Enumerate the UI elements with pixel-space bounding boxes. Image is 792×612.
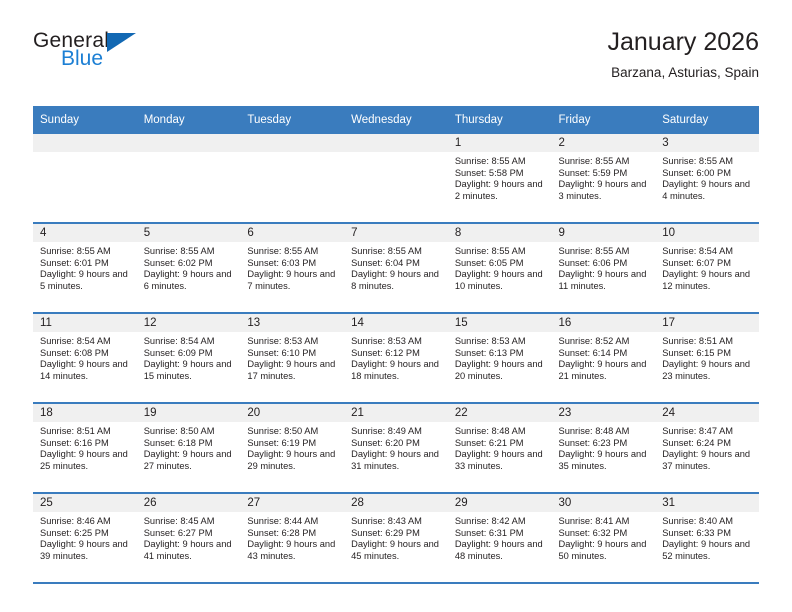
day-sun-info: Sunrise: 8:55 AMSunset: 6:00 PMDaylight:… (655, 152, 759, 202)
day-box: 31Sunrise: 8:40 AMSunset: 6:33 PMDayligh… (655, 494, 759, 582)
daylight-text: Daylight: 9 hours and 12 minutes. (662, 269, 753, 292)
daylight-text: Daylight: 9 hours and 21 minutes. (559, 359, 650, 382)
day-sun-info: Sunrise: 8:55 AMSunset: 6:04 PMDaylight:… (344, 242, 448, 292)
day-box: 25Sunrise: 8:46 AMSunset: 6:25 PMDayligh… (33, 494, 137, 582)
day-number (344, 134, 448, 152)
sunset-text: Sunset: 6:12 PM (351, 348, 442, 360)
sunrise-text: Sunrise: 8:44 AM (247, 516, 338, 528)
day-number: 11 (33, 314, 137, 332)
daylight-text: Daylight: 9 hours and 29 minutes. (247, 449, 338, 472)
day-sun-info: Sunrise: 8:45 AMSunset: 6:27 PMDaylight:… (137, 512, 241, 562)
sunrise-text: Sunrise: 8:55 AM (40, 246, 131, 258)
day-sun-info: Sunrise: 8:49 AMSunset: 6:20 PMDaylight:… (344, 422, 448, 472)
calendar-day-cell[interactable]: 18Sunrise: 8:51 AMSunset: 6:16 PMDayligh… (33, 403, 137, 493)
day-box: 12Sunrise: 8:54 AMSunset: 6:09 PMDayligh… (137, 314, 241, 402)
title-block: January 2026 Barzana, Asturias, Spain (607, 26, 759, 82)
sunrise-text: Sunrise: 8:55 AM (662, 156, 753, 168)
day-sun-info: Sunrise: 8:47 AMSunset: 6:24 PMDaylight:… (655, 422, 759, 472)
day-sun-info: Sunrise: 8:54 AMSunset: 6:09 PMDaylight:… (137, 332, 241, 382)
day-sun-info: Sunrise: 8:54 AMSunset: 6:07 PMDaylight:… (655, 242, 759, 292)
calendar-cell-empty (137, 134, 241, 223)
daylight-text: Daylight: 9 hours and 20 minutes. (455, 359, 546, 382)
day-box (240, 134, 344, 222)
day-sun-info: Sunrise: 8:53 AMSunset: 6:13 PMDaylight:… (448, 332, 552, 382)
sunrise-text: Sunrise: 8:47 AM (662, 426, 753, 438)
day-sun-info: Sunrise: 8:41 AMSunset: 6:32 PMDaylight:… (552, 512, 656, 562)
daylight-text: Daylight: 9 hours and 35 minutes. (559, 449, 650, 472)
calendar-day-cell[interactable]: 9Sunrise: 8:55 AMSunset: 6:06 PMDaylight… (552, 223, 656, 313)
calendar-day-cell[interactable]: 2Sunrise: 8:55 AMSunset: 5:59 PMDaylight… (552, 134, 656, 223)
day-number: 21 (344, 404, 448, 422)
daylight-text: Daylight: 9 hours and 23 minutes. (662, 359, 753, 382)
daylight-text: Daylight: 9 hours and 48 minutes. (455, 539, 546, 562)
calendar-cell-empty (240, 134, 344, 223)
calendar-day-cell[interactable]: 20Sunrise: 8:50 AMSunset: 6:19 PMDayligh… (240, 403, 344, 493)
day-sun-info: Sunrise: 8:51 AMSunset: 6:16 PMDaylight:… (33, 422, 137, 472)
day-sun-info: Sunrise: 8:53 AMSunset: 6:10 PMDaylight:… (240, 332, 344, 382)
day-sun-info: Sunrise: 8:55 AMSunset: 6:03 PMDaylight:… (240, 242, 344, 292)
daylight-text: Daylight: 9 hours and 37 minutes. (662, 449, 753, 472)
day-box: 16Sunrise: 8:52 AMSunset: 6:14 PMDayligh… (552, 314, 656, 402)
calendar-day-cell[interactable]: 6Sunrise: 8:55 AMSunset: 6:03 PMDaylight… (240, 223, 344, 313)
day-sun-info: Sunrise: 8:46 AMSunset: 6:25 PMDaylight:… (33, 512, 137, 562)
day-box: 21Sunrise: 8:49 AMSunset: 6:20 PMDayligh… (344, 404, 448, 492)
calendar-day-cell[interactable]: 12Sunrise: 8:54 AMSunset: 6:09 PMDayligh… (137, 313, 241, 403)
weekday-header-saturday: Saturday (655, 106, 759, 134)
day-sun-info: Sunrise: 8:50 AMSunset: 6:18 PMDaylight:… (137, 422, 241, 472)
calendar-week-row: 11Sunrise: 8:54 AMSunset: 6:08 PMDayligh… (33, 313, 759, 403)
day-number: 30 (552, 494, 656, 512)
daylight-text: Daylight: 9 hours and 50 minutes. (559, 539, 650, 562)
weekday-header-thursday: Thursday (448, 106, 552, 134)
sunrise-text: Sunrise: 8:55 AM (247, 246, 338, 258)
day-number: 22 (448, 404, 552, 422)
sunrise-text: Sunrise: 8:51 AM (662, 336, 753, 348)
page-title: January 2026 (607, 26, 759, 58)
day-sun-info: Sunrise: 8:53 AMSunset: 6:12 PMDaylight:… (344, 332, 448, 382)
daylight-text: Daylight: 9 hours and 5 minutes. (40, 269, 131, 292)
page-header: General Blue January 2026 Barzana, Astur… (33, 30, 759, 98)
day-box: 14Sunrise: 8:53 AMSunset: 6:12 PMDayligh… (344, 314, 448, 402)
sunset-text: Sunset: 6:06 PM (559, 258, 650, 270)
sunrise-text: Sunrise: 8:55 AM (455, 246, 546, 258)
day-sun-info: Sunrise: 8:50 AMSunset: 6:19 PMDaylight:… (240, 422, 344, 472)
calendar-day-cell[interactable]: 11Sunrise: 8:54 AMSunset: 6:08 PMDayligh… (33, 313, 137, 403)
sunset-text: Sunset: 6:23 PM (559, 438, 650, 450)
day-number: 23 (552, 404, 656, 422)
sunrise-text: Sunrise: 8:52 AM (559, 336, 650, 348)
sunrise-text: Sunrise: 8:48 AM (455, 426, 546, 438)
day-box: 19Sunrise: 8:50 AMSunset: 6:18 PMDayligh… (137, 404, 241, 492)
sunrise-text: Sunrise: 8:55 AM (559, 156, 650, 168)
sunrise-text: Sunrise: 8:42 AM (455, 516, 546, 528)
daylight-text: Daylight: 9 hours and 14 minutes. (40, 359, 131, 382)
calendar-day-cell[interactable]: 14Sunrise: 8:53 AMSunset: 6:12 PMDayligh… (344, 313, 448, 403)
day-number: 17 (655, 314, 759, 332)
day-number: 13 (240, 314, 344, 332)
day-box (137, 134, 241, 222)
day-number: 7 (344, 224, 448, 242)
day-box: 8Sunrise: 8:55 AMSunset: 6:05 PMDaylight… (448, 224, 552, 312)
calendar-page: General Blue January 2026 Barzana, Astur… (0, 0, 792, 612)
calendar-day-cell[interactable]: 25Sunrise: 8:46 AMSunset: 6:25 PMDayligh… (33, 493, 137, 583)
calendar-day-cell[interactable]: 13Sunrise: 8:53 AMSunset: 6:10 PMDayligh… (240, 313, 344, 403)
sunrise-text: Sunrise: 8:45 AM (144, 516, 235, 528)
sunrise-text: Sunrise: 8:54 AM (40, 336, 131, 348)
sunset-text: Sunset: 6:31 PM (455, 528, 546, 540)
day-box: 6Sunrise: 8:55 AMSunset: 6:03 PMDaylight… (240, 224, 344, 312)
day-box: 17Sunrise: 8:51 AMSunset: 6:15 PMDayligh… (655, 314, 759, 402)
calendar-week-row: 18Sunrise: 8:51 AMSunset: 6:16 PMDayligh… (33, 403, 759, 493)
day-sun-info: Sunrise: 8:42 AMSunset: 6:31 PMDaylight:… (448, 512, 552, 562)
day-number: 4 (33, 224, 137, 242)
calendar-body: 1Sunrise: 8:55 AMSunset: 5:58 PMDaylight… (33, 134, 759, 583)
sunset-text: Sunset: 6:09 PM (144, 348, 235, 360)
daylight-text: Daylight: 9 hours and 3 minutes. (559, 179, 650, 202)
calendar-day-cell[interactable]: 7Sunrise: 8:55 AMSunset: 6:04 PMDaylight… (344, 223, 448, 313)
sunset-text: Sunset: 6:19 PM (247, 438, 338, 450)
daylight-text: Daylight: 9 hours and 45 minutes. (351, 539, 442, 562)
day-sun-info: Sunrise: 8:54 AMSunset: 6:08 PMDaylight:… (33, 332, 137, 382)
sunrise-text: Sunrise: 8:50 AM (144, 426, 235, 438)
calendar-day-cell[interactable]: 3Sunrise: 8:55 AMSunset: 6:00 PMDaylight… (655, 134, 759, 223)
day-number: 27 (240, 494, 344, 512)
calendar-day-cell[interactable]: 5Sunrise: 8:55 AMSunset: 6:02 PMDaylight… (137, 223, 241, 313)
day-sun-info: Sunrise: 8:52 AMSunset: 6:14 PMDaylight:… (552, 332, 656, 382)
weekday-headers: SundayMondayTuesdayWednesdayThursdayFrid… (33, 106, 759, 134)
calendar-day-cell[interactable]: 30Sunrise: 8:41 AMSunset: 6:32 PMDayligh… (552, 493, 656, 583)
daylight-text: Daylight: 9 hours and 11 minutes. (559, 269, 650, 292)
daylight-text: Daylight: 9 hours and 31 minutes. (351, 449, 442, 472)
day-box: 1Sunrise: 8:55 AMSunset: 5:58 PMDaylight… (448, 134, 552, 222)
day-box (344, 134, 448, 222)
sunrise-text: Sunrise: 8:46 AM (40, 516, 131, 528)
weekday-header-monday: Monday (137, 106, 241, 134)
day-number: 26 (137, 494, 241, 512)
sunrise-text: Sunrise: 8:54 AM (662, 246, 753, 258)
sunset-text: Sunset: 6:16 PM (40, 438, 131, 450)
calendar-cell-empty (33, 134, 137, 223)
calendar-day-cell[interactable]: 15Sunrise: 8:53 AMSunset: 6:13 PMDayligh… (448, 313, 552, 403)
day-number: 20 (240, 404, 344, 422)
calendar-day-cell[interactable]: 22Sunrise: 8:48 AMSunset: 6:21 PMDayligh… (448, 403, 552, 493)
day-number: 19 (137, 404, 241, 422)
day-number: 29 (448, 494, 552, 512)
sunrise-text: Sunrise: 8:49 AM (351, 426, 442, 438)
daylight-text: Daylight: 9 hours and 4 minutes. (662, 179, 753, 202)
day-number: 24 (655, 404, 759, 422)
day-box: 11Sunrise: 8:54 AMSunset: 6:08 PMDayligh… (33, 314, 137, 402)
calendar-day-cell[interactable]: 4Sunrise: 8:55 AMSunset: 6:01 PMDaylight… (33, 223, 137, 313)
day-box: 18Sunrise: 8:51 AMSunset: 6:16 PMDayligh… (33, 404, 137, 492)
calendar-grid: SundayMondayTuesdayWednesdayThursdayFrid… (33, 106, 759, 584)
sunset-text: Sunset: 6:01 PM (40, 258, 131, 270)
day-number: 31 (655, 494, 759, 512)
sunset-text: Sunset: 6:28 PM (247, 528, 338, 540)
daylight-text: Daylight: 9 hours and 25 minutes. (40, 449, 131, 472)
day-sun-info: Sunrise: 8:55 AMSunset: 6:01 PMDaylight:… (33, 242, 137, 292)
sunset-text: Sunset: 5:59 PM (559, 168, 650, 180)
day-number: 10 (655, 224, 759, 242)
day-box: 13Sunrise: 8:53 AMSunset: 6:10 PMDayligh… (240, 314, 344, 402)
day-box: 4Sunrise: 8:55 AMSunset: 6:01 PMDaylight… (33, 224, 137, 312)
day-box: 9Sunrise: 8:55 AMSunset: 6:06 PMDaylight… (552, 224, 656, 312)
day-box: 15Sunrise: 8:53 AMSunset: 6:13 PMDayligh… (448, 314, 552, 402)
weekday-header-sunday: Sunday (33, 106, 137, 134)
sunset-text: Sunset: 6:32 PM (559, 528, 650, 540)
day-box: 23Sunrise: 8:48 AMSunset: 6:23 PMDayligh… (552, 404, 656, 492)
day-box: 22Sunrise: 8:48 AMSunset: 6:21 PMDayligh… (448, 404, 552, 492)
daylight-text: Daylight: 9 hours and 52 minutes. (662, 539, 753, 562)
triangle-icon (107, 33, 136, 52)
calendar-day-cell[interactable]: 1Sunrise: 8:55 AMSunset: 5:58 PMDaylight… (448, 134, 552, 223)
calendar-day-cell[interactable]: 8Sunrise: 8:55 AMSunset: 6:05 PMDaylight… (448, 223, 552, 313)
daylight-text: Daylight: 9 hours and 2 minutes. (455, 179, 546, 202)
sunset-text: Sunset: 6:18 PM (144, 438, 235, 450)
day-sun-info: Sunrise: 8:55 AMSunset: 6:02 PMDaylight:… (137, 242, 241, 292)
sunset-text: Sunset: 6:00 PM (662, 168, 753, 180)
daylight-text: Daylight: 9 hours and 33 minutes. (455, 449, 546, 472)
sunset-text: Sunset: 6:15 PM (662, 348, 753, 360)
day-sun-info: Sunrise: 8:40 AMSunset: 6:33 PMDaylight:… (655, 512, 759, 562)
day-number: 12 (137, 314, 241, 332)
day-box: 3Sunrise: 8:55 AMSunset: 6:00 PMDaylight… (655, 134, 759, 222)
calendar-week-row: 4Sunrise: 8:55 AMSunset: 6:01 PMDaylight… (33, 223, 759, 313)
sunrise-text: Sunrise: 8:53 AM (455, 336, 546, 348)
day-box: 27Sunrise: 8:44 AMSunset: 6:28 PMDayligh… (240, 494, 344, 582)
weekday-header-tuesday: Tuesday (240, 106, 344, 134)
day-sun-info: Sunrise: 8:55 AMSunset: 5:59 PMDaylight:… (552, 152, 656, 202)
calendar-day-cell[interactable]: 19Sunrise: 8:50 AMSunset: 6:18 PMDayligh… (137, 403, 241, 493)
calendar-header-row: SundayMondayTuesdayWednesdayThursdayFrid… (33, 106, 759, 134)
calendar-day-cell[interactable]: 17Sunrise: 8:51 AMSunset: 6:15 PMDayligh… (655, 313, 759, 403)
day-box: 20Sunrise: 8:50 AMSunset: 6:19 PMDayligh… (240, 404, 344, 492)
sunset-text: Sunset: 6:20 PM (351, 438, 442, 450)
day-box: 10Sunrise: 8:54 AMSunset: 6:07 PMDayligh… (655, 224, 759, 312)
day-number: 8 (448, 224, 552, 242)
day-number (240, 134, 344, 152)
sunset-text: Sunset: 6:07 PM (662, 258, 753, 270)
daylight-text: Daylight: 9 hours and 17 minutes. (247, 359, 338, 382)
sunset-text: Sunset: 6:05 PM (455, 258, 546, 270)
sunset-text: Sunset: 6:25 PM (40, 528, 131, 540)
calendar-day-cell[interactable]: 31Sunrise: 8:40 AMSunset: 6:33 PMDayligh… (655, 493, 759, 583)
sunrise-text: Sunrise: 8:50 AM (247, 426, 338, 438)
day-box: 7Sunrise: 8:55 AMSunset: 6:04 PMDaylight… (344, 224, 448, 312)
sunset-text: Sunset: 6:24 PM (662, 438, 753, 450)
day-number (33, 134, 137, 152)
day-number: 15 (448, 314, 552, 332)
day-number: 28 (344, 494, 448, 512)
sunset-text: Sunset: 6:33 PM (662, 528, 753, 540)
calendar-day-cell[interactable]: 29Sunrise: 8:42 AMSunset: 6:31 PMDayligh… (448, 493, 552, 583)
sunrise-text: Sunrise: 8:48 AM (559, 426, 650, 438)
daylight-text: Daylight: 9 hours and 10 minutes. (455, 269, 546, 292)
brand-name-bottom: Blue (61, 49, 253, 69)
daylight-text: Daylight: 9 hours and 18 minutes. (351, 359, 442, 382)
day-box: 5Sunrise: 8:55 AMSunset: 6:02 PMDaylight… (137, 224, 241, 312)
calendar-day-cell[interactable]: 26Sunrise: 8:45 AMSunset: 6:27 PMDayligh… (137, 493, 241, 583)
day-sun-info: Sunrise: 8:55 AMSunset: 6:06 PMDaylight:… (552, 242, 656, 292)
day-number: 1 (448, 134, 552, 152)
day-number (137, 134, 241, 152)
calendar-week-row: 25Sunrise: 8:46 AMSunset: 6:25 PMDayligh… (33, 493, 759, 583)
sunset-text: Sunset: 6:03 PM (247, 258, 338, 270)
daylight-text: Daylight: 9 hours and 27 minutes. (144, 449, 235, 472)
sunset-text: Sunset: 6:27 PM (144, 528, 235, 540)
day-box: 24Sunrise: 8:47 AMSunset: 6:24 PMDayligh… (655, 404, 759, 492)
sunset-text: Sunset: 6:21 PM (455, 438, 546, 450)
sunset-text: Sunset: 5:58 PM (455, 168, 546, 180)
sunrise-text: Sunrise: 8:53 AM (247, 336, 338, 348)
day-number: 5 (137, 224, 241, 242)
day-sun-info: Sunrise: 8:55 AMSunset: 5:58 PMDaylight:… (448, 152, 552, 202)
day-box: 29Sunrise: 8:42 AMSunset: 6:31 PMDayligh… (448, 494, 552, 582)
day-sun-info: Sunrise: 8:44 AMSunset: 6:28 PMDaylight:… (240, 512, 344, 562)
day-sun-info: Sunrise: 8:48 AMSunset: 6:21 PMDaylight:… (448, 422, 552, 472)
day-sun-info: Sunrise: 8:43 AMSunset: 6:29 PMDaylight:… (344, 512, 448, 562)
brand-logo[interactable]: General Blue (33, 30, 253, 69)
sunset-text: Sunset: 6:29 PM (351, 528, 442, 540)
sunrise-text: Sunrise: 8:55 AM (351, 246, 442, 258)
daylight-text: Daylight: 9 hours and 8 minutes. (351, 269, 442, 292)
day-box: 28Sunrise: 8:43 AMSunset: 6:29 PMDayligh… (344, 494, 448, 582)
sunrise-text: Sunrise: 8:55 AM (455, 156, 546, 168)
calendar-day-cell[interactable]: 27Sunrise: 8:44 AMSunset: 6:28 PMDayligh… (240, 493, 344, 583)
day-sun-info: Sunrise: 8:51 AMSunset: 6:15 PMDaylight:… (655, 332, 759, 382)
day-sun-info: Sunrise: 8:55 AMSunset: 6:05 PMDaylight:… (448, 242, 552, 292)
sunrise-text: Sunrise: 8:55 AM (144, 246, 235, 258)
sunset-text: Sunset: 6:04 PM (351, 258, 442, 270)
daylight-text: Daylight: 9 hours and 41 minutes. (144, 539, 235, 562)
day-box (33, 134, 137, 222)
day-sun-info: Sunrise: 8:48 AMSunset: 6:23 PMDaylight:… (552, 422, 656, 472)
day-number: 18 (33, 404, 137, 422)
calendar-day-cell[interactable]: 21Sunrise: 8:49 AMSunset: 6:20 PMDayligh… (344, 403, 448, 493)
day-number: 9 (552, 224, 656, 242)
sunrise-text: Sunrise: 8:51 AM (40, 426, 131, 438)
sunrise-text: Sunrise: 8:40 AM (662, 516, 753, 528)
sunset-text: Sunset: 6:14 PM (559, 348, 650, 360)
day-box: 30Sunrise: 8:41 AMSunset: 6:32 PMDayligh… (552, 494, 656, 582)
calendar-day-cell[interactable]: 24Sunrise: 8:47 AMSunset: 6:24 PMDayligh… (655, 403, 759, 493)
day-number: 25 (33, 494, 137, 512)
sunrise-text: Sunrise: 8:55 AM (559, 246, 650, 258)
daylight-text: Daylight: 9 hours and 39 minutes. (40, 539, 131, 562)
sunrise-text: Sunrise: 8:54 AM (144, 336, 235, 348)
day-number: 16 (552, 314, 656, 332)
sunset-text: Sunset: 6:10 PM (247, 348, 338, 360)
day-number: 14 (344, 314, 448, 332)
weekday-header-wednesday: Wednesday (344, 106, 448, 134)
page-subtitle: Barzana, Asturias, Spain (607, 64, 759, 82)
day-number: 6 (240, 224, 344, 242)
sunset-text: Sunset: 6:08 PM (40, 348, 131, 360)
calendar-cell-empty (344, 134, 448, 223)
calendar-day-cell[interactable]: 16Sunrise: 8:52 AMSunset: 6:14 PMDayligh… (552, 313, 656, 403)
day-number: 3 (655, 134, 759, 152)
calendar-day-cell[interactable]: 10Sunrise: 8:54 AMSunset: 6:07 PMDayligh… (655, 223, 759, 313)
sunset-text: Sunset: 6:02 PM (144, 258, 235, 270)
calendar-day-cell[interactable]: 28Sunrise: 8:43 AMSunset: 6:29 PMDayligh… (344, 493, 448, 583)
daylight-text: Daylight: 9 hours and 15 minutes. (144, 359, 235, 382)
daylight-text: Daylight: 9 hours and 6 minutes. (144, 269, 235, 292)
daylight-text: Daylight: 9 hours and 7 minutes. (247, 269, 338, 292)
day-number: 2 (552, 134, 656, 152)
sunset-text: Sunset: 6:13 PM (455, 348, 546, 360)
daylight-text: Daylight: 9 hours and 43 minutes. (247, 539, 338, 562)
day-box: 26Sunrise: 8:45 AMSunset: 6:27 PMDayligh… (137, 494, 241, 582)
weekday-header-friday: Friday (552, 106, 656, 134)
sunrise-text: Sunrise: 8:43 AM (351, 516, 442, 528)
day-box: 2Sunrise: 8:55 AMSunset: 5:59 PMDaylight… (552, 134, 656, 222)
calendar-day-cell[interactable]: 23Sunrise: 8:48 AMSunset: 6:23 PMDayligh… (552, 403, 656, 493)
sunrise-text: Sunrise: 8:53 AM (351, 336, 442, 348)
calendar-week-row: 1Sunrise: 8:55 AMSunset: 5:58 PMDaylight… (33, 134, 759, 223)
sunrise-text: Sunrise: 8:41 AM (559, 516, 650, 528)
